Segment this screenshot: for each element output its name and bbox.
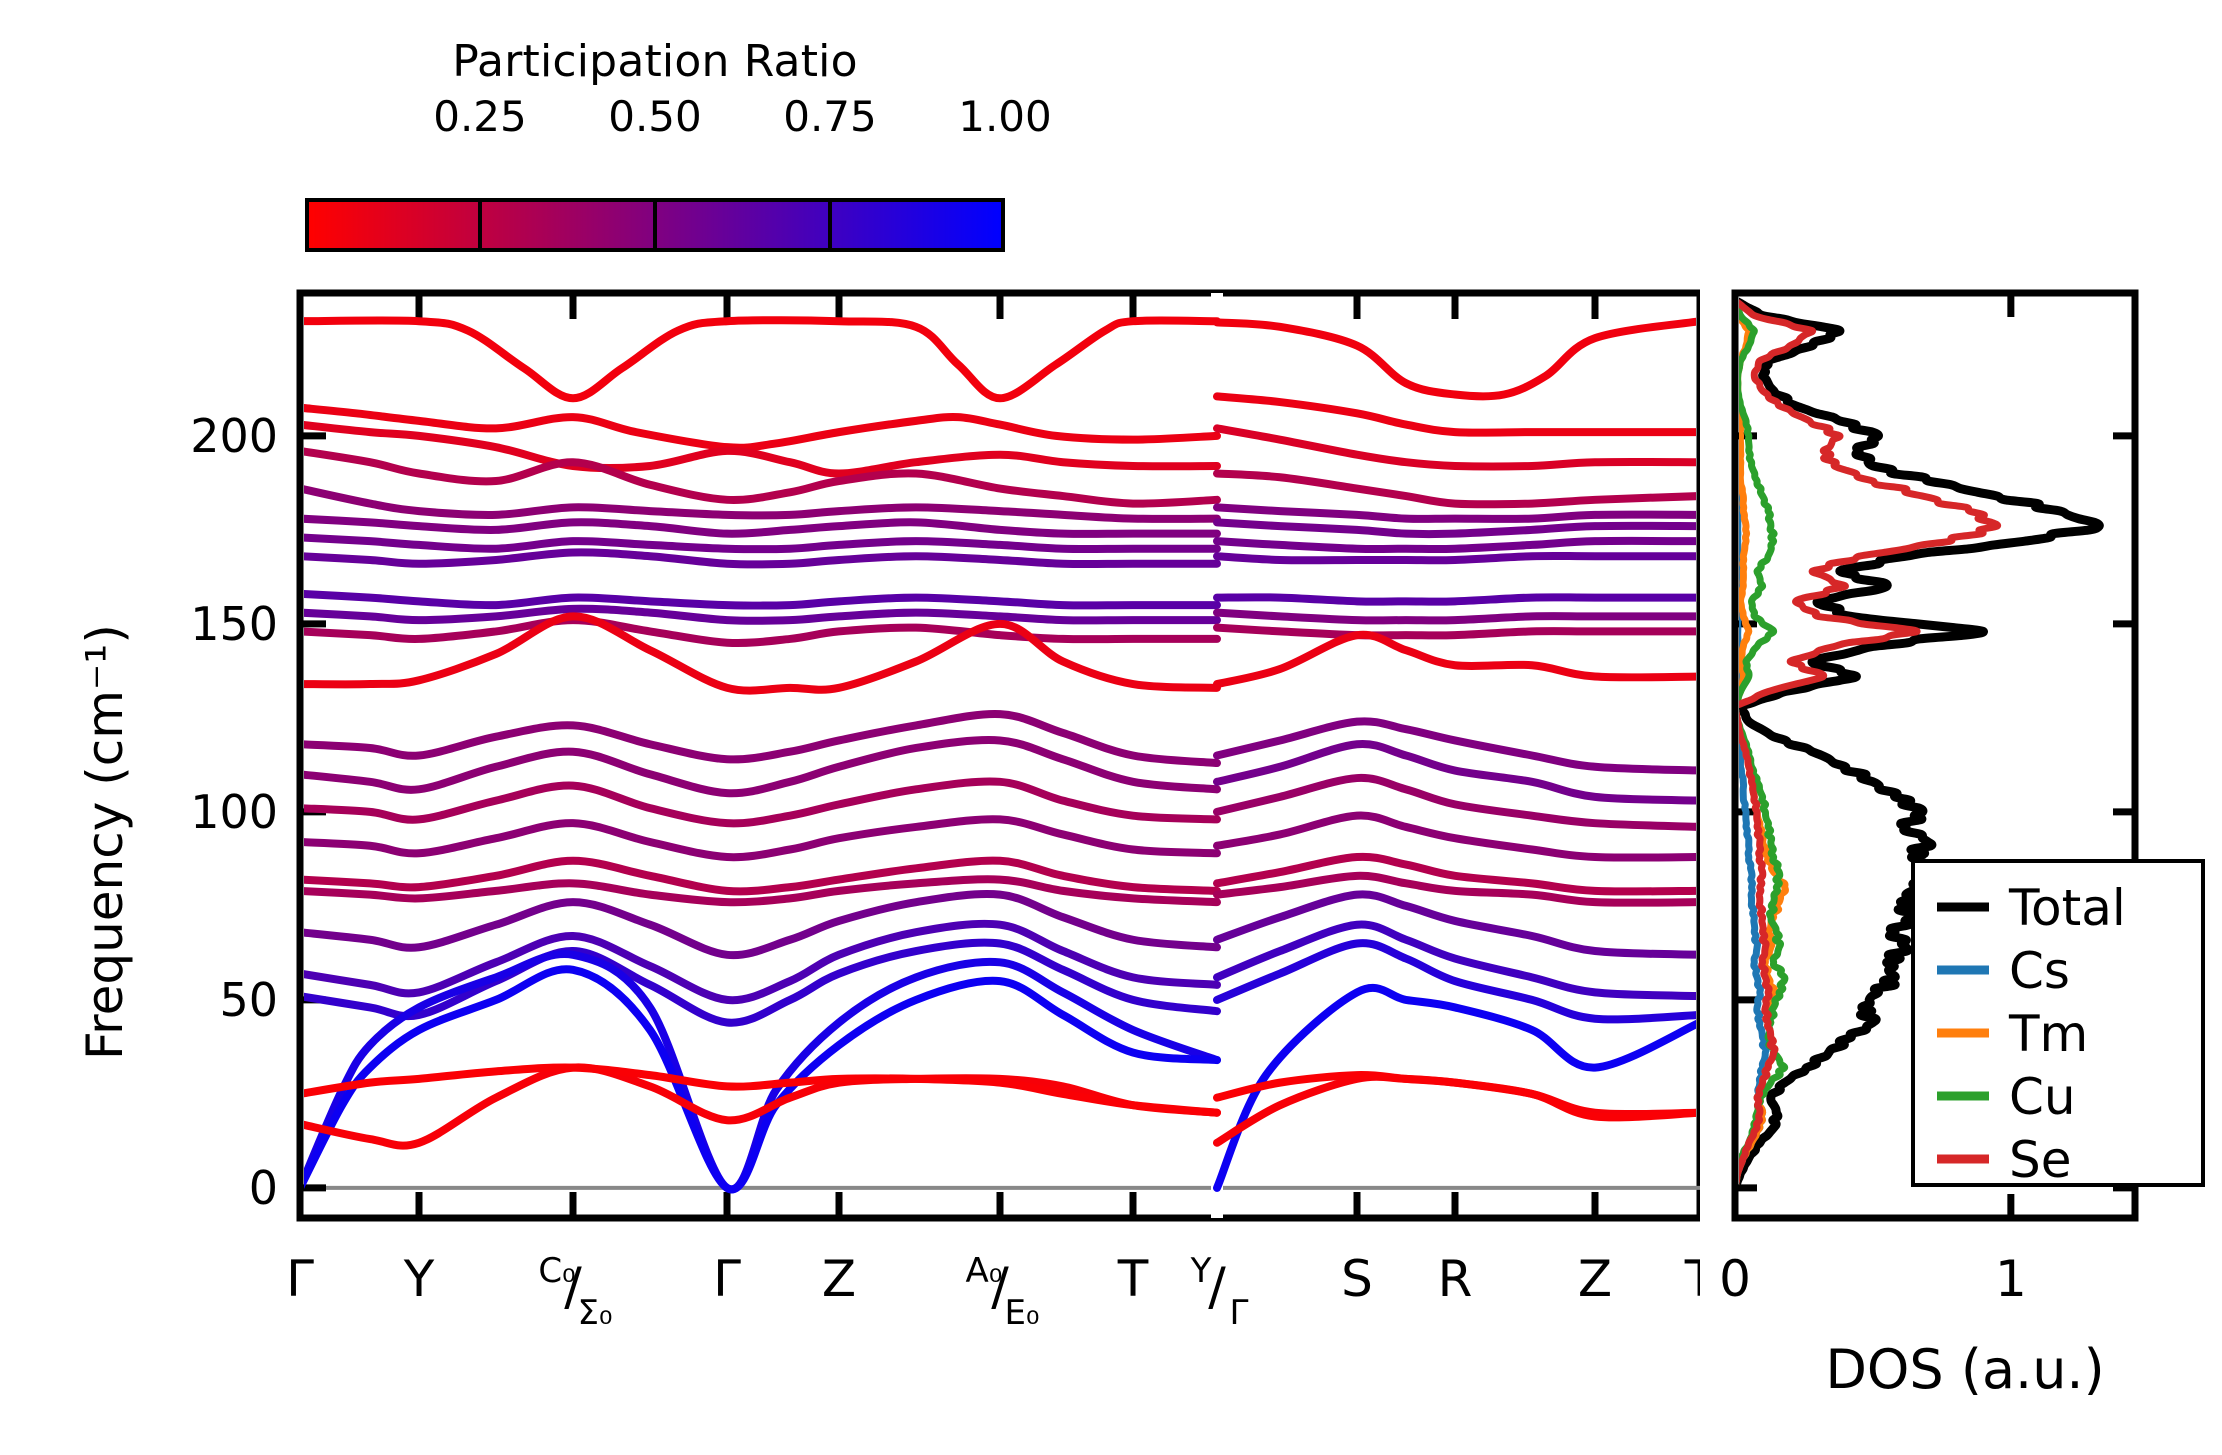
legend-label-se: Se <box>2009 1131 2072 1189</box>
dos-panel: 01DOS (a.u.)TotalCsTmCuSe <box>0 0 2222 1455</box>
phonon-band-dos-figure: Participation Ratio 0.250.500.751.00 Fre… <box>0 0 2222 1455</box>
legend-label-cs: Cs <box>2009 942 2070 1000</box>
dos-x-axis-label: DOS (a.u.) <box>1825 1338 2104 1401</box>
legend-label-tm: Tm <box>2008 1005 2088 1063</box>
legend-label-total: Total <box>2008 879 2126 937</box>
dos-x-tick-label: 1 <box>1995 1250 2027 1308</box>
legend-label-cu: Cu <box>2009 1068 2076 1126</box>
dos-x-tick-label: 0 <box>1719 1250 1751 1308</box>
